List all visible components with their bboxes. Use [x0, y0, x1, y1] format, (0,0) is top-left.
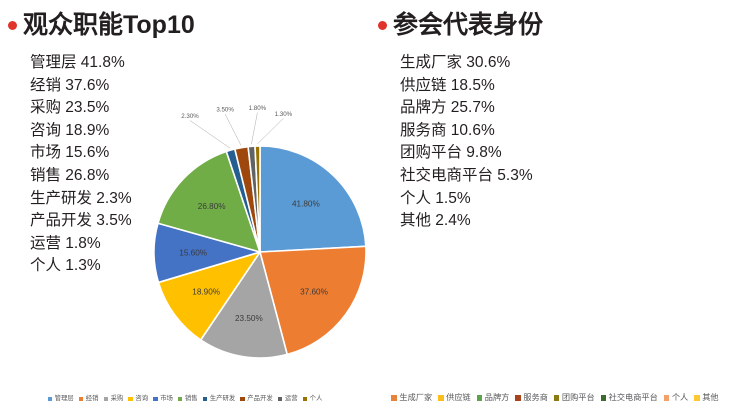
- legend-audience-function: 管理层经销采购咨询市场销售生产研发产品开发运营个人: [0, 396, 370, 402]
- list-item: 管理层 41.8%: [30, 52, 205, 75]
- legend-label: 产品开发: [247, 396, 273, 402]
- legend-label: 团购平台: [562, 394, 595, 402]
- pie-slice-value-label: 2.30%: [181, 113, 199, 120]
- pie-leader-line: [257, 118, 283, 144]
- legend-item-left-5[interactable]: 销售: [178, 396, 198, 402]
- legend-item-left-6[interactable]: 生产研发: [203, 396, 236, 402]
- legend-item-right-5[interactable]: 社交电商平台: [601, 394, 658, 402]
- legend-label: 销售: [185, 396, 198, 402]
- right-stat-list: 生成厂家 30.6% 供应链 18.5% 品牌方 25.7% 服务商 10.6%…: [400, 52, 575, 233]
- legend-swatch-icon: [664, 395, 670, 401]
- list-item: 经销 37.6%: [30, 75, 205, 98]
- legend-item-right-1[interactable]: 供应链: [438, 394, 471, 402]
- pie-slice-value-label: 23.50%: [235, 314, 263, 323]
- legend-item-left-7[interactable]: 产品开发: [240, 396, 273, 402]
- legend-swatch-icon: [203, 397, 208, 402]
- legend-swatch-icon: [554, 395, 560, 401]
- list-item: 品牌方 25.7%: [400, 97, 575, 120]
- legend-label: 生成厂家: [399, 394, 432, 402]
- legend-label: 供应链: [446, 394, 471, 402]
- pie-slice-value-label: 15.60%: [179, 249, 207, 258]
- legend-item-left-2[interactable]: 采购: [104, 396, 124, 402]
- pie-leader-line: [190, 121, 230, 149]
- legend-label: 经销: [86, 396, 99, 402]
- pie-slice-value-label: 18.90%: [192, 288, 220, 297]
- legend-item-left-8[interactable]: 运营: [278, 396, 298, 402]
- legend-swatch-icon: [128, 397, 133, 402]
- bullet-icon: [8, 21, 17, 30]
- legend-label: 社交电商平台: [609, 394, 658, 402]
- legend-label: 个人: [672, 394, 688, 402]
- legend-item-left-1[interactable]: 经销: [79, 396, 99, 402]
- legend-item-right-7[interactable]: 其他: [694, 394, 718, 402]
- panel-attendee-identity: 参会代表身份 生成厂家 30.6% 供应链 18.5% 品牌方 25.7% 服务…: [370, 0, 740, 412]
- pie-slice-value-label: 26.80%: [198, 202, 226, 211]
- pie-slice-value-label: 1.30%: [275, 111, 293, 118]
- legend-label: 其他: [702, 394, 718, 402]
- legend-label: 服务商: [523, 394, 548, 402]
- legend-item-right-6[interactable]: 个人: [664, 394, 688, 402]
- legend-swatch-icon: [153, 397, 158, 402]
- legend-label: 生产研发: [210, 396, 236, 402]
- list-item: 采购 23.5%: [30, 97, 205, 120]
- bullet-icon: [378, 21, 387, 30]
- list-item: 个人 1.5%: [400, 188, 575, 211]
- left-title-row: 观众职能Top10: [8, 8, 195, 42]
- pie-slice-value-label: 37.60%: [300, 287, 328, 296]
- legend-item-left-4[interactable]: 市场: [153, 396, 173, 402]
- legend-swatch-icon: [178, 397, 183, 402]
- list-item: 社交电商平台 5.3%: [400, 165, 575, 188]
- list-item: 生成厂家 30.6%: [400, 52, 575, 75]
- pie-chart-audience-function: 41.80%37.60%23.50%18.90%15.60%26.80%2.30…: [148, 118, 372, 366]
- legend-swatch-icon: [104, 397, 109, 402]
- list-item: 服务商 10.6%: [400, 120, 575, 143]
- legend-swatch-icon: [278, 397, 283, 402]
- legend-item-left-3[interactable]: 咨询: [128, 396, 148, 402]
- legend-item-right-2[interactable]: 品牌方: [477, 394, 510, 402]
- panel-audience-function: 观众职能Top10 管理层 41.8% 经销 37.6% 采购 23.5% 咨询…: [0, 0, 370, 412]
- legend-label: 个人: [310, 396, 323, 402]
- legend-swatch-icon: [694, 395, 700, 401]
- legend-label: 管理层: [55, 396, 74, 402]
- list-item: 其他 2.4%: [400, 210, 575, 233]
- legend-swatch-icon: [438, 395, 444, 401]
- list-item: 团购平台 9.8%: [400, 142, 575, 165]
- legend-label: 咨询: [135, 396, 148, 402]
- list-item: 供应链 18.5%: [400, 75, 575, 98]
- page-title-left: 观众职能Top10: [23, 13, 195, 38]
- legend-item-left-0[interactable]: 管理层: [48, 396, 74, 402]
- legend-swatch-icon: [515, 395, 521, 401]
- legend-label: 市场: [160, 396, 173, 402]
- legend-item-right-3[interactable]: 服务商: [515, 394, 548, 402]
- pie-leader-line: [225, 114, 241, 146]
- legend-swatch-icon: [477, 395, 483, 401]
- slide-canvas: 观众职能Top10 管理层 41.8% 经销 37.6% 采购 23.5% 咨询…: [0, 0, 740, 412]
- legend-item-left-9[interactable]: 个人: [303, 396, 323, 402]
- legend-swatch-icon: [303, 397, 308, 402]
- right-title-row: 参会代表身份: [378, 8, 543, 42]
- pie-slice-value-label: 1.80%: [249, 105, 267, 112]
- pie-slice-value-label: 41.80%: [292, 200, 320, 209]
- legend-swatch-icon: [240, 397, 245, 402]
- legend-swatch-icon: [48, 397, 53, 402]
- legend-label: 采购: [111, 396, 124, 402]
- pie-leader-line: [251, 113, 257, 145]
- legend-label: 运营: [285, 396, 298, 402]
- pie-slice-value-label: 3.50%: [216, 107, 234, 114]
- legend-swatch-icon: [79, 397, 84, 402]
- legend-attendee-identity: 生成厂家供应链品牌方服务商团购平台社交电商平台个人其他: [370, 394, 740, 402]
- page-title-right: 参会代表身份: [393, 13, 543, 38]
- legend-item-right-4[interactable]: 团购平台: [554, 394, 595, 402]
- legend-swatch-icon: [391, 395, 397, 401]
- legend-swatch-icon: [601, 395, 607, 401]
- legend-label: 品牌方: [485, 394, 510, 402]
- legend-item-right-0[interactable]: 生成厂家: [391, 394, 432, 402]
